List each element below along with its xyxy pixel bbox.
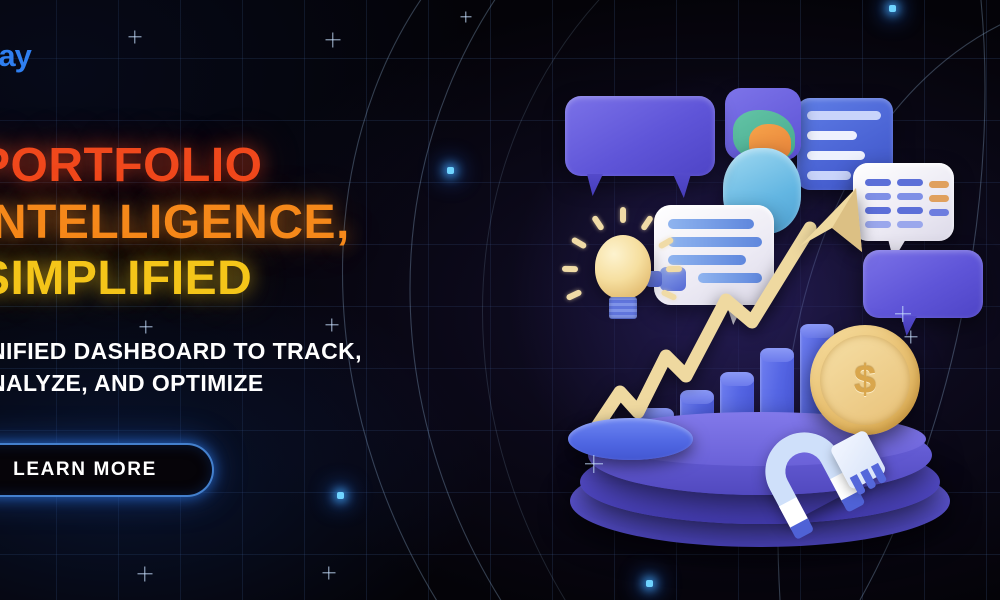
hero-illustration: $ [470,0,1000,600]
logo-text-blue: pay [0,38,31,73]
subtitle-line-2: ANALYZE, AND OPTIMIZE [0,368,532,400]
headline-line-1: PORTFOLIO [0,138,538,195]
learn-more-button[interactable]: LEARN MORE [0,443,214,497]
hero-banner: zpay PORTFOLIO INTELLIGENCE, SIMPLIFIED … [0,0,1000,600]
blue-disc [568,418,693,460]
page-subtitle: UNIFIED DASHBOARD TO TRACK, ANALYZE, AND… [0,336,532,399]
learn-more-label: LEARN MORE [13,459,157,481]
headline-line-2: INTELLIGENCE, [0,195,538,252]
headline-line-3: SIMPLIFIED [0,251,538,308]
glow-dot [337,492,344,499]
brand-logo[interactable]: zpay [0,40,31,71]
subtitle-line-1: UNIFIED DASHBOARD TO TRACK, [0,336,532,368]
page-title: PORTFOLIO INTELLIGENCE, SIMPLIFIED [0,138,538,308]
